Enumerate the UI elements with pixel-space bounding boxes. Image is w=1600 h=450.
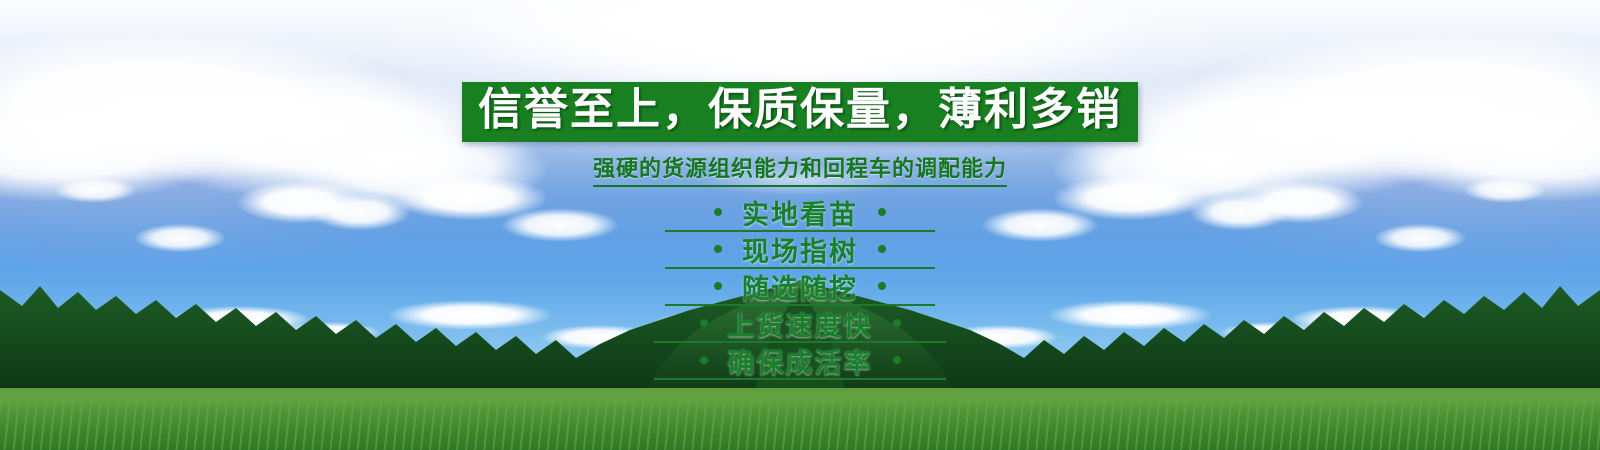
bullet-dot-icon — [878, 208, 886, 216]
feature-row: 实地看苗 — [665, 195, 935, 232]
bullet-dot-icon — [714, 245, 722, 253]
bullet-dot-icon — [714, 208, 722, 216]
feature-list: 实地看苗 现场指树 随选随挖 上货速度快 确保成活率 — [654, 195, 946, 380]
headline-text: 信誉至上，保质保量，薄利多销 — [478, 86, 1122, 134]
feature-row: 确保成活率 — [654, 343, 946, 380]
banner-content: 信誉至上，保质保量，薄利多销 强硬的货源组织能力和回程车的调配能力 实地看苗 现… — [0, 0, 1600, 450]
bullet-dot-icon — [700, 319, 708, 327]
feature-row: 现场指树 — [665, 232, 935, 269]
feature-row: 随选随挖 — [665, 269, 935, 306]
subtitle-text: 强硬的货源组织能力和回程车的调配能力 — [593, 151, 1007, 187]
feature-label: 随选随挖 — [742, 267, 858, 306]
headline-band: 信誉至上，保质保量，薄利多销 — [462, 82, 1138, 142]
bullet-dot-icon — [878, 282, 886, 290]
bullet-dot-icon — [714, 282, 722, 290]
feature-label: 确保成活率 — [728, 341, 873, 380]
feature-label: 上货速度快 — [728, 304, 873, 343]
bullet-dot-icon — [893, 319, 901, 327]
feature-label: 实地看苗 — [742, 193, 858, 232]
feature-label: 现场指树 — [742, 230, 858, 269]
bullet-dot-icon — [893, 356, 901, 364]
feature-row: 上货速度快 — [654, 306, 946, 343]
bullet-dot-icon — [700, 356, 708, 364]
bullet-dot-icon — [878, 245, 886, 253]
promo-banner: 信誉至上，保质保量，薄利多销 强硬的货源组织能力和回程车的调配能力 实地看苗 现… — [0, 0, 1600, 450]
